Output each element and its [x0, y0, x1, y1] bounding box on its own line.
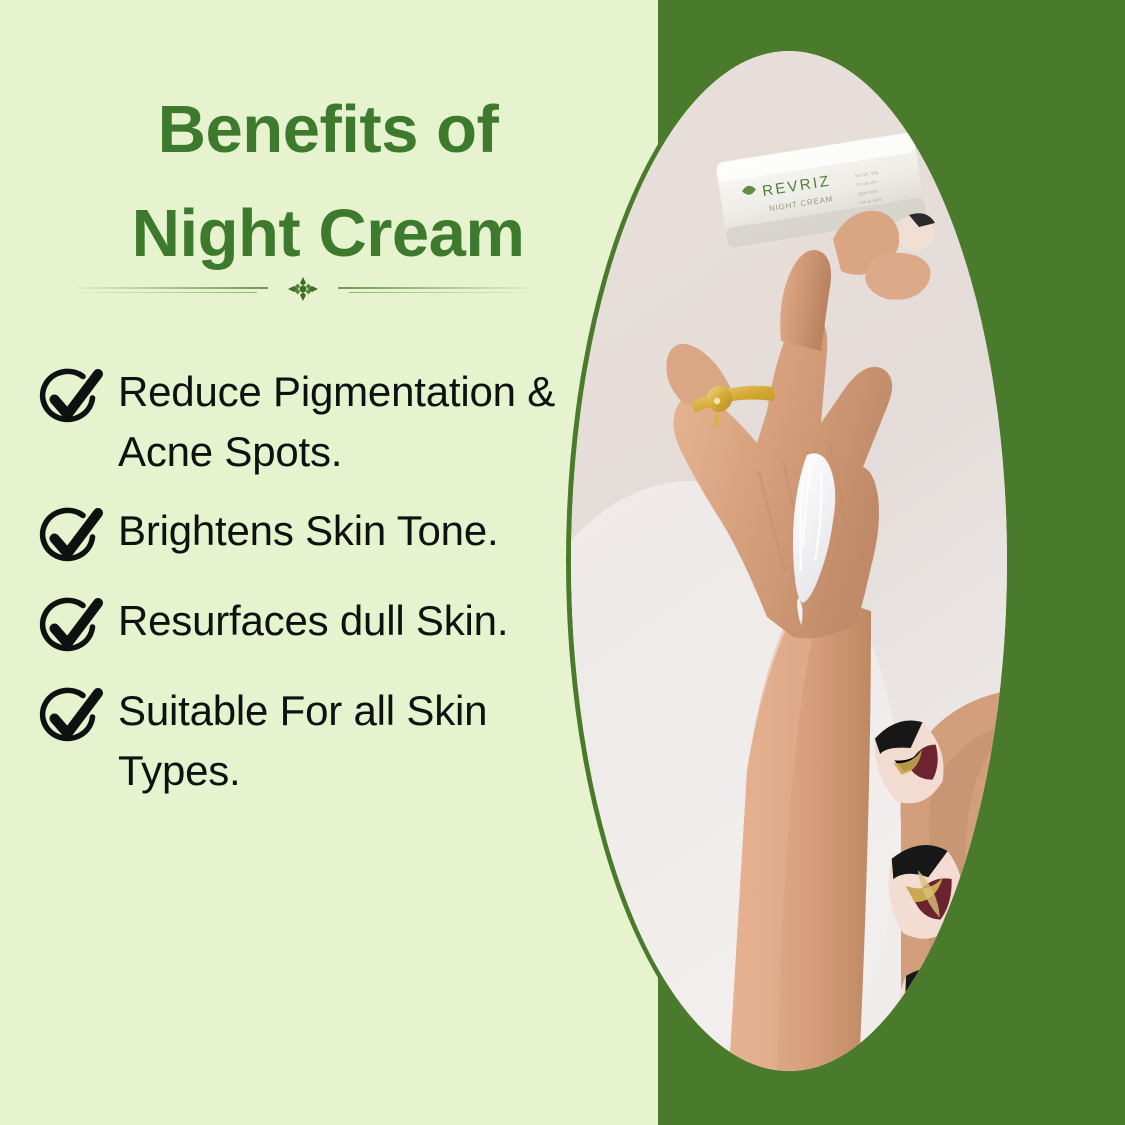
list-item-label: Reduce Pigmentation & Acne Spots.: [118, 358, 606, 481]
poster-canvas: Benefits of Night Cream: [0, 0, 1125, 1125]
list-item: Resurfaces dull Skin.: [36, 587, 606, 661]
list-item: Reduce Pigmentation & Acne Spots.: [36, 358, 606, 481]
benefits-list: Reduce Pigmentation & Acne Spots. Bright…: [36, 358, 606, 817]
check-circle-icon: [36, 687, 104, 751]
list-item-label: Suitable For all Skin Types.: [118, 677, 606, 800]
list-item-label: Resurfaces dull Skin.: [118, 587, 508, 651]
list-item-label: Brightens Skin Tone.: [118, 497, 498, 561]
divider-rule-right: [338, 287, 528, 289]
check-circle-icon: [36, 507, 104, 571]
title-line-2: Night Cream: [38, 182, 618, 286]
list-item: Brightens Skin Tone.: [36, 497, 606, 571]
product-photo: REVRIZ NIGHT CREAM Net Wt. 50g For all s…: [571, 51, 1007, 1071]
divider-rule-left: [78, 287, 268, 289]
check-circle-icon: [36, 597, 104, 661]
divider: [78, 275, 528, 303]
fleuron-ornament-icon: [286, 275, 320, 303]
list-item: Suitable For all Skin Types.: [36, 677, 606, 800]
title-line-1: Benefits of: [38, 78, 618, 182]
product-photo-oval: REVRIZ NIGHT CREAM Net Wt. 50g For all s…: [566, 46, 1012, 1076]
divider-rule-left-inner: [82, 292, 257, 293]
check-circle-icon: [36, 368, 104, 432]
divider-rule-right-inner: [349, 292, 524, 293]
page-title: Benefits of Night Cream: [38, 78, 618, 286]
